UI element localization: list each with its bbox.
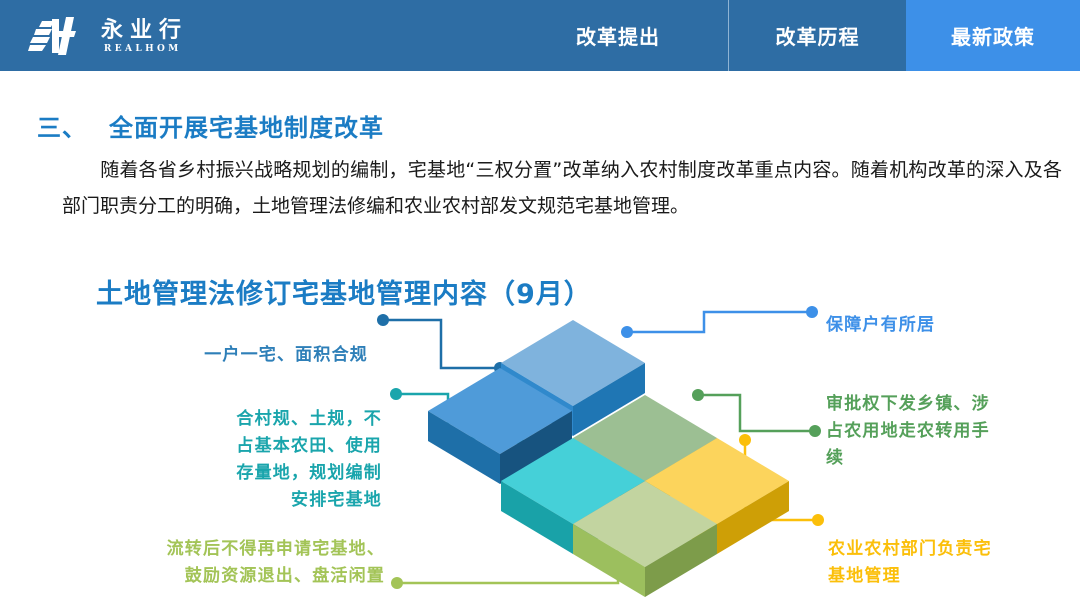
dot-no-reapply-label	[391, 577, 403, 589]
section-paragraph-text: 随着各省乡村振兴战略规划的编制，宅基地“三权分置”改革纳入农村制度改革重点内容。…	[62, 159, 1062, 217]
section-number: 三、	[37, 114, 87, 142]
label-agri-dept-responsible: 农业农村部门负责宅 基地管理	[828, 536, 1078, 590]
dot-approval-label	[809, 425, 821, 437]
connector-approval-township	[698, 395, 815, 431]
label-guarantee-housing: 保障户有所居	[826, 312, 1076, 339]
logo-cn-text: 永业行	[94, 19, 188, 41]
section-paragraph: 随着各省乡村振兴战略规划的编制，宅基地“三权分置”改革纳入农村制度改革重点内容。…	[62, 152, 1062, 224]
connector-guarantee-housing	[627, 312, 812, 332]
nav-tab-latest-policy[interactable]: 最新政策	[906, 0, 1080, 71]
dot-agri-box	[739, 434, 751, 446]
section-title-text: 全面开展宅基地制度改革	[109, 114, 384, 142]
logo-en-text: REALHOM	[100, 45, 181, 54]
company-logo-icon	[28, 15, 84, 57]
dot-guarantee-label	[806, 306, 818, 318]
dot-agri-label	[812, 514, 824, 526]
nav-tab-reform-history[interactable]: 改革历程	[728, 0, 906, 71]
main-nav: 改革提出 改革历程 最新政策	[508, 0, 1080, 71]
dot-one-household-label	[377, 314, 389, 326]
label-village-plan-compliance: 合村规、土规，不 占基本农田、使用 存量地，规划编制 安排宅基地	[0, 406, 382, 514]
label-no-reapply-after-transfer: 流转后不得再申请宅基地、 鼓励资源退出、盘活闲置	[0, 536, 385, 590]
dot-approval-box	[692, 389, 704, 401]
connector-one-household	[383, 320, 500, 368]
label-approval-to-township: 审批权下发乡镇、涉 占农用地走农转用手 续	[826, 391, 1078, 472]
section-heading: 三、全面开展宅基地制度改革	[37, 108, 384, 143]
brand-logo[interactable]: 永业行 REALHOM	[28, 14, 188, 58]
dot-village-plan-label	[390, 388, 402, 400]
nav-tab-reform-proposal[interactable]: 改革提出	[508, 0, 728, 71]
label-one-household-one-site: 一户一宅、面积合规	[0, 342, 368, 369]
isometric-diagram: 土地管理法修订宅基地管理内容（9月）	[0, 258, 1080, 608]
dot-guarantee-box	[621, 326, 633, 338]
page-header: 永业行 REALHOM 改革提出 改革历程 最新政策	[0, 0, 1080, 71]
